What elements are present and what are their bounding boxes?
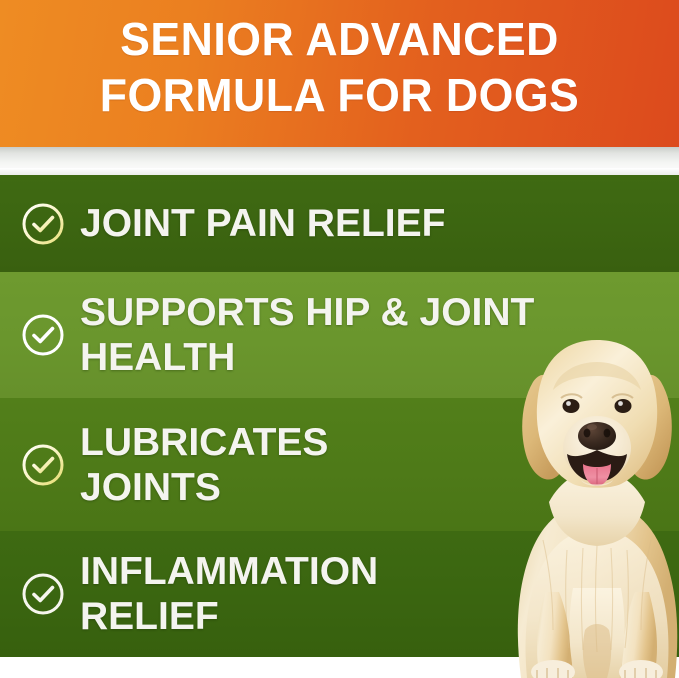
- check-circle-icon: [20, 571, 66, 617]
- header-divider: [0, 147, 679, 175]
- benefit-label: LUBRICATES JOINTS: [80, 420, 328, 510]
- benefit-row-inflammation-relief: INFLAMMATION RELIEF: [0, 531, 679, 657]
- benefit-label: JOINT PAIN RELIEF: [80, 201, 445, 246]
- benefit-row-lubricates-joints: LUBRICATES JOINTS: [0, 398, 679, 531]
- check-circle-icon: [20, 312, 66, 358]
- check-circle-icon: [20, 201, 66, 247]
- check-circle-icon: [20, 442, 66, 488]
- benefit-row-joint-pain-relief: JOINT PAIN RELIEF: [0, 175, 679, 272]
- benefit-row-supports-hip-joint-health: SUPPORTS HIP & JOINT HEALTH: [0, 272, 679, 398]
- header-banner: SENIOR ADVANCED FORMULA FOR DOGS: [0, 0, 679, 147]
- page-title: SENIOR ADVANCED FORMULA FOR DOGS: [10, 11, 669, 123]
- bottom-margin: [0, 657, 679, 678]
- product-feature-poster: SENIOR ADVANCED FORMULA FOR DOGS JOINT P…: [0, 0, 679, 678]
- benefits-list: JOINT PAIN RELIEF SUPPORTS HIP & JOINT H…: [0, 175, 679, 657]
- benefit-label: INFLAMMATION RELIEF: [80, 549, 378, 639]
- benefit-label: SUPPORTS HIP & JOINT HEALTH: [80, 290, 534, 380]
